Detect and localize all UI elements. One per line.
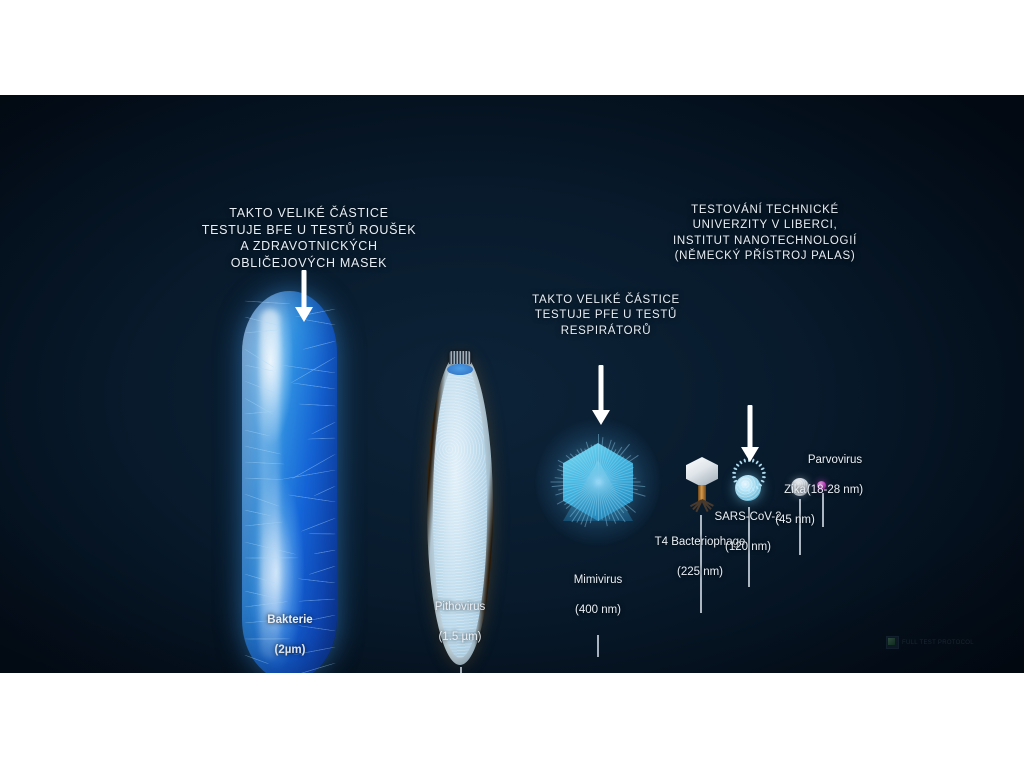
annotation-bfe-test: TAKTO VELIKÉ ČÁSTICE TESTUJE BFE U TESTŮ… bbox=[184, 205, 434, 272]
sars-cov-2-spike bbox=[735, 463, 739, 467]
label-pithovirus-name: Pithovirus bbox=[435, 601, 486, 613]
label-parvovirus: Parvovirus (18-28 nm) bbox=[775, 438, 895, 498]
sars-cov-2-spike bbox=[732, 472, 736, 475]
sars-cov-2-spike bbox=[733, 467, 737, 470]
broken-image-icon bbox=[886, 636, 899, 649]
arrow-head bbox=[592, 410, 610, 425]
arrow-down-icon-lab bbox=[740, 405, 760, 463]
label-pithovirus: Pithovirus (1.5 µm) bbox=[400, 585, 520, 645]
label-zika-size: (45 nm) bbox=[775, 514, 815, 526]
specimen-mimivirus bbox=[552, 433, 644, 531]
label-bacteria-name: Bakterie bbox=[267, 614, 312, 626]
leader-line-pithovirus bbox=[460, 667, 462, 673]
sars-cov-2-spike bbox=[732, 476, 736, 479]
pithovirus-cork bbox=[449, 351, 471, 364]
label-bacteria-size: (2µm) bbox=[275, 644, 306, 656]
label-parvovirus-name: Parvovirus bbox=[808, 454, 862, 466]
arrow-head bbox=[295, 307, 313, 322]
arrow-shaft bbox=[599, 365, 604, 411]
arrow-head bbox=[741, 447, 759, 462]
slide-canvas: TAKTO VELIKÉ ČÁSTICE TESTUJE BFE U TESTŮ… bbox=[0, 0, 1024, 768]
watermark-alt-text: FULL TEST PROTOCOL bbox=[902, 640, 974, 646]
annotation-pfe-test: TAKTO VELIKÉ ČÁSTICE TESTUJE PFE U TESTŮ… bbox=[506, 293, 706, 339]
arrow-down-icon-bfe bbox=[294, 270, 314, 322]
arrow-shaft bbox=[748, 405, 753, 448]
label-mimivirus-name: Mimivirus bbox=[574, 574, 623, 586]
phage-head bbox=[686, 457, 718, 487]
label-bacteria: Bakterie (2µm) bbox=[225, 598, 355, 658]
arrow-down-icon-pfe bbox=[591, 365, 611, 427]
leader-line-mimivirus bbox=[597, 635, 599, 657]
label-parvovirus-size: (18-28 nm) bbox=[807, 484, 863, 496]
label-sars-size: (120 nm) bbox=[725, 541, 771, 553]
label-mimivirus-size: (400 nm) bbox=[575, 604, 621, 616]
broken-image-watermark: FULL TEST PROTOCOL bbox=[886, 636, 974, 649]
label-phage-size: (225 nm) bbox=[677, 566, 723, 578]
pithovirus-apex-patch bbox=[447, 364, 473, 375]
annotation-lab-source: TESTOVÁNÍ TECHNICKÉ UNIVERZITY V LIBERCI… bbox=[640, 203, 890, 264]
infographic-panel: TAKTO VELIKÉ ČÁSTICE TESTUJE BFE U TESTŮ… bbox=[0, 95, 1024, 673]
arrow-shaft bbox=[302, 270, 307, 308]
label-pithovirus-size: (1.5 µm) bbox=[438, 631, 481, 643]
